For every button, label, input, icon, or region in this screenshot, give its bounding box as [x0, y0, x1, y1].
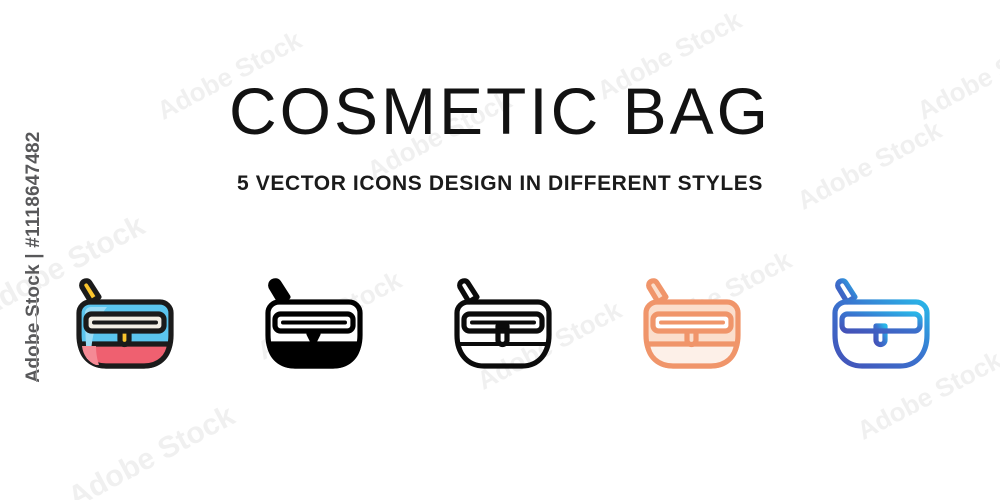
- icon-set-canvas: Adobe Stock Adobe Stock Adobe Stock Adob…: [0, 0, 1000, 500]
- page-title: COSMETIC BAG: [0, 78, 1000, 144]
- cosmetic-bag-gradient-blue-icon[interactable]: [806, 268, 956, 396]
- watermark-tile: Adobe Stock: [63, 399, 241, 500]
- heading-block: COSMETIC BAG 5 VECTOR ICONS DESIGN IN DI…: [0, 78, 1000, 196]
- cosmetic-bag-duotone-orange-icon[interactable]: [617, 268, 767, 396]
- watermark-divider-rule: [36, 296, 37, 382]
- cosmetic-bag-glyph-icon[interactable]: [239, 268, 389, 396]
- adobe-stock-watermark-vertical: Adobe Stock | #1118647482: [21, 129, 47, 385]
- icon-variant-row: [50, 268, 956, 396]
- cosmetic-bag-flat-color-icon[interactable]: [50, 268, 200, 396]
- page-subtitle: 5 VECTOR ICONS DESIGN IN DIFFERENT STYLE…: [0, 144, 1000, 196]
- cosmetic-bag-line-icon[interactable]: [428, 268, 578, 396]
